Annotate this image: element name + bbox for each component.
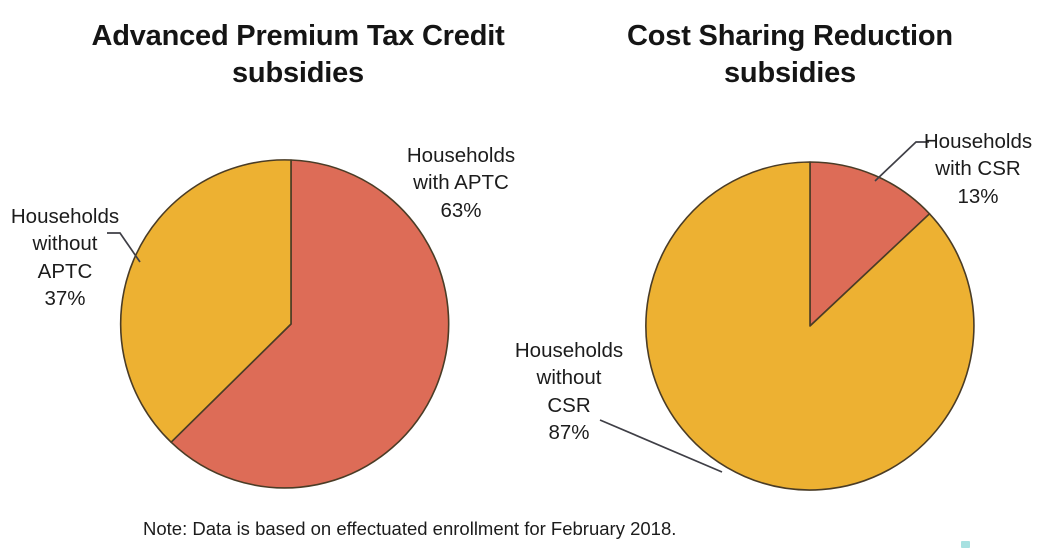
pie-slice-csr-without[interactable] (646, 162, 974, 490)
slide-canvas: Advanced Premium Tax Credit subsidies Co… (0, 0, 1037, 551)
pie-label-aptc-with: Households with APTC 63% (398, 142, 524, 224)
pie-label-csr-without: Households without CSR 87% (506, 337, 632, 446)
pie-label-aptc-without: Households without APTC 37% (6, 203, 124, 312)
pie-slice-csr-with[interactable] (810, 162, 930, 326)
pie-label-csr-with: Households with CSR 13% (922, 128, 1034, 210)
pie-slice-aptc-without[interactable] (121, 160, 291, 442)
cursor-artifact (961, 541, 970, 548)
leader-line-csr-with (875, 142, 929, 181)
source-note: Note: Data is based on effectuated enrol… (143, 518, 676, 540)
chart-title-csr: Cost Sharing Reduction subsidies (560, 18, 1020, 92)
chart-title-aptc: Advanced Premium Tax Credit subsidies (68, 18, 528, 92)
